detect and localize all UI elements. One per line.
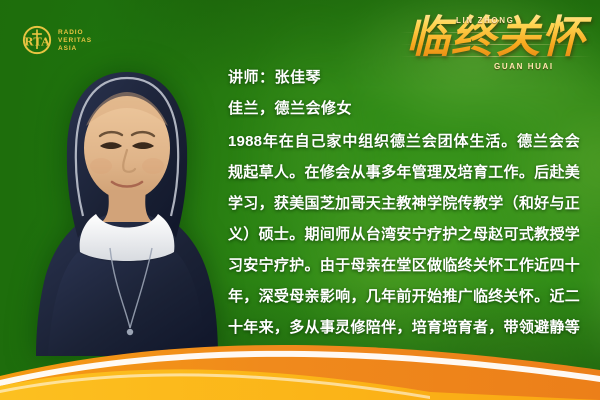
speaker-copy-block: 讲师：张佳琴 佳兰，德兰会修女 1988年在自己家中组织德兰会团体生活。德兰会会…: [228, 62, 580, 374]
logo-line-1: RADIO: [58, 29, 92, 36]
poster-canvas: RTA RADIO VERITAS ASIA 临终关怀 LIN ZHONG GU…: [0, 0, 600, 400]
nun-portrait-illustration: [34, 56, 220, 374]
ribbon-waves: [0, 336, 600, 400]
speaker-portrait: [34, 56, 220, 374]
title-pinyin-top: LIN ZHONG: [456, 16, 514, 25]
logo-line-2: VERITAS: [58, 37, 92, 44]
bottom-ribbon: [0, 336, 600, 400]
rva-logo: RTA RADIO VERITAS ASIA: [22, 25, 92, 55]
svg-text:RTA: RTA: [24, 34, 50, 48]
rva-monogram-icon: RTA: [22, 25, 52, 55]
role-line: 佳兰，德兰会修女: [228, 93, 580, 124]
lecturer-line: 讲师：张佳琴: [228, 62, 580, 93]
rva-wordmark: RADIO VERITAS ASIA: [58, 29, 92, 52]
logo-line-3: ASIA: [58, 45, 92, 52]
